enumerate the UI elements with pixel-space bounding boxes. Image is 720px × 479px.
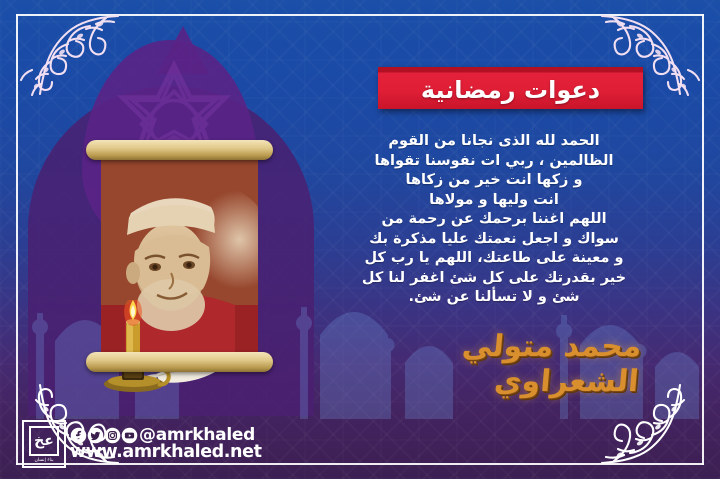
duaa-line: الحمد لله الذى نجانا من القوم — [352, 132, 636, 152]
duaa-line: اللهم اغننا برحمك عن رحمة من — [352, 210, 636, 230]
scroll-rod-bottom — [86, 352, 273, 372]
banner-title-text: دعوات رمضانية — [421, 76, 600, 104]
social-handle[interactable]: @amrkhaled — [139, 427, 255, 444]
duaa-line: و معينة على طاعتك، اللهم يا رب كل — [352, 249, 636, 269]
duaa-line: سواك و اجعل نعمتك عليا مذكرة بك — [352, 230, 636, 250]
floral-corner-bottom-left — [6, 383, 126, 475]
duaa-line: شئ و لا تسألنا عن شئ. — [352, 288, 636, 308]
duaa-line: انت وليها و مولاها — [352, 191, 636, 211]
floral-corner-top-left — [6, 4, 126, 96]
duaa-line: و زكها انت خير من زكاها — [352, 171, 636, 191]
scroll-rod-top — [86, 140, 273, 160]
candle-and-quill — [98, 300, 238, 392]
duaa-line: خير بقدرتك على كل شئ اغفر لنا كل — [352, 269, 636, 289]
ramadan-poster: دعوات رمضانية الحمد لله الذى نجانا من ال… — [0, 0, 720, 479]
duaa-line: الظالمين ، ربي ات نفوسنا تقواها — [352, 152, 636, 172]
floral-corner-top-right — [594, 4, 714, 96]
duaa-text-block: الحمد لله الذى نجانا من القوم الظالمين ،… — [352, 132, 636, 308]
floral-corner-bottom-right — [594, 383, 714, 475]
